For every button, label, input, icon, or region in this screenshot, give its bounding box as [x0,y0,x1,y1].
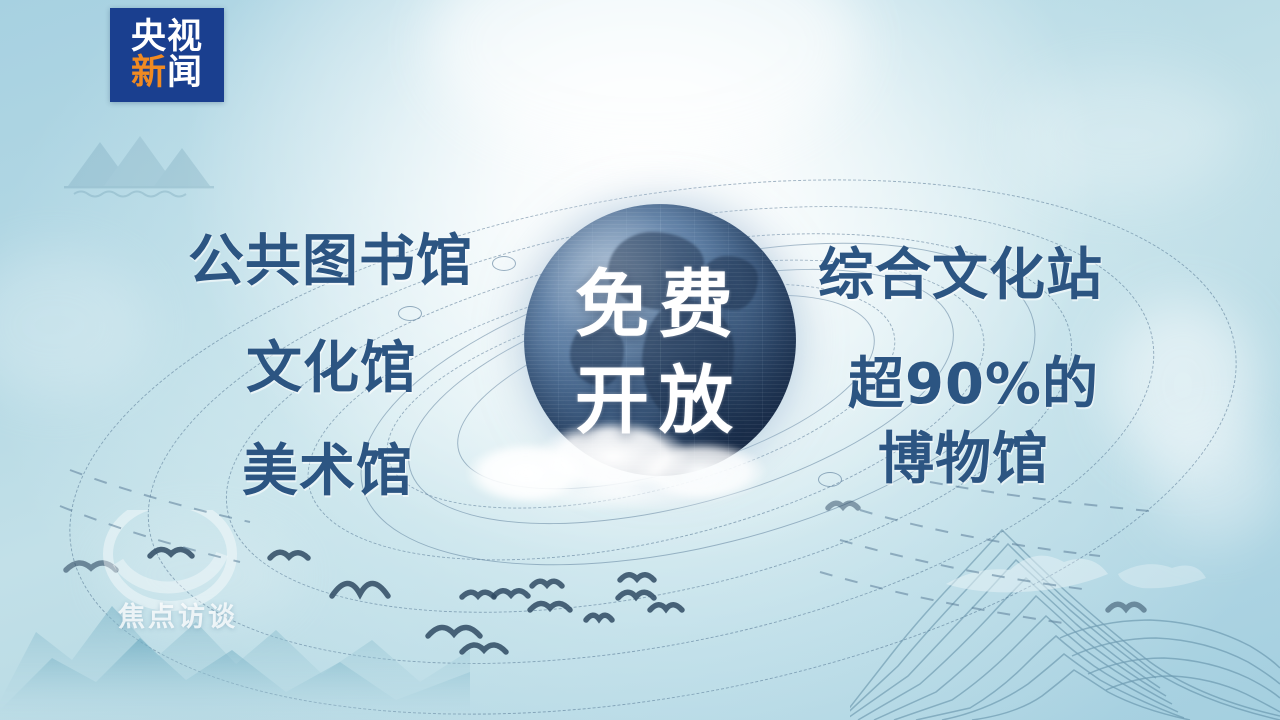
topographic-contour-decoration [850,470,1280,720]
orbit-node-a [398,306,422,321]
logo-text-yangshi: 央视 [131,20,203,55]
cloud-blob-topright [1010,70,1240,200]
logo-line-2: 新 闻 [131,56,203,91]
left-item-public-library: 公共图书馆 [188,234,473,290]
headline-line-2: 开放 [575,364,743,438]
right-item-culture-station: 综合文化站 [818,248,1103,304]
bird-icon-11 [586,615,612,620]
cloud-blob-left [0,250,150,400]
bird-icon-10 [530,603,570,610]
bird-icon-12 [620,575,654,580]
cloud-blob-right [1108,300,1258,470]
orbit-node-c [818,472,842,487]
headline-line-1: 免费 [575,268,743,342]
bird-icon-8 [494,591,528,596]
bird-icon-9 [532,581,562,586]
left-item-art-museum: 美术馆 [242,444,413,500]
cctv-news-logo[interactable]: 央视 新 闻 [110,8,224,102]
ink-mountain-icon [56,126,226,204]
left-item-culture-center: 文化馆 [246,341,417,397]
cloud-blob-topcenter [430,0,860,160]
bird-icon-14 [650,605,682,610]
logo-text-xin: 新 [131,56,167,91]
logo-text-wen: 闻 [167,56,203,91]
program-watermark: 焦点访谈 [118,604,238,631]
logo-line-1: 央视 [131,20,203,55]
broadcast-graphic-stage: 免费 开放 公共图书馆 文化馆 美术馆 综合文化站 超90%的 博物馆 [0,0,1280,720]
bird-icon-13 [618,592,654,598]
right-item-over-90-percent: 超90%的 [848,357,1099,413]
